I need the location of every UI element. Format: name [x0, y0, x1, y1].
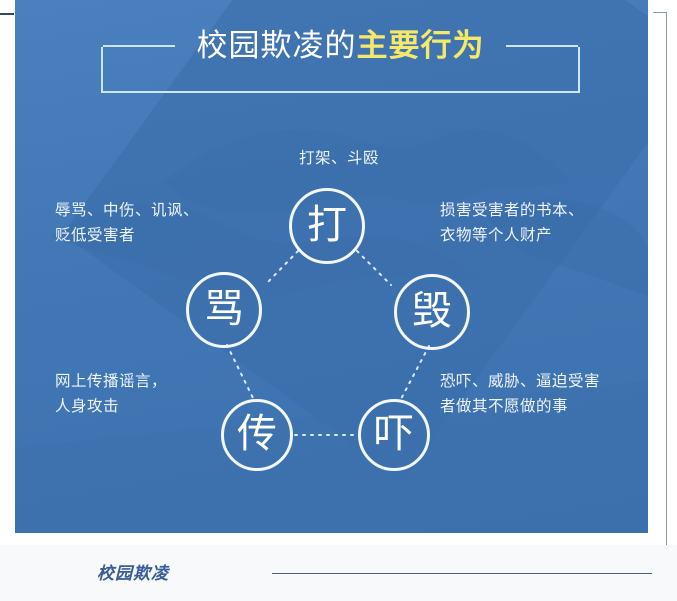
caption-bottom-left: 网上传播谣言， 人身攻击: [55, 369, 245, 419]
diagram-node-chuan-label: 传: [237, 414, 277, 454]
poster-page: 校园欺凌的主要行为 打 骂 毁: [0, 0, 677, 601]
caption-bottom-right: 恐吓、威胁、逼迫受害 者做其不愿做的事: [440, 369, 645, 419]
caption-right: 损害受害者的书本、 衣物等个人财产: [440, 198, 645, 248]
link-hui-xia: [401, 346, 429, 399]
diagram-node-xia-label: 吓: [374, 414, 414, 454]
footer-divider-rule: [272, 573, 652, 574]
poster-panel: 校园欺凌的主要行为 打 骂 毁: [15, 0, 648, 533]
caption-left: 辱骂、中伤、讥讽、 贬低受害者: [55, 198, 255, 248]
diagram-node-hui-label: 毁: [412, 291, 452, 331]
diagram-node-hui[interactable]: 毁: [394, 274, 470, 350]
footer-bar: 校园欺凌: [0, 545, 677, 601]
link-da-hui: [357, 251, 391, 285]
diagram-node-xia[interactable]: 吓: [358, 399, 430, 471]
diagram-node-ma[interactable]: 骂: [186, 272, 262, 348]
diagram-node-da[interactable]: 打: [289, 188, 365, 264]
link-da-ma: [267, 251, 298, 283]
footer-label: 校园欺凌: [97, 559, 169, 584]
behaviour-diagram: 打 骂 毁 传 吓 打架、斗殴 辱骂、中伤、讥讽、 贬低受害者 损害受害者的书本…: [15, 0, 648, 533]
corner-tick-mark: [0, 13, 14, 15]
diagram-node-da-label: 打: [307, 205, 347, 245]
right-rule-cap: [653, 12, 667, 13]
diagram-link-lines: [15, 0, 648, 533]
diagram-node-ma-label: 骂: [204, 289, 244, 329]
caption-top: 打架、斗殴: [259, 146, 419, 171]
right-margin-rule: [666, 12, 667, 578]
